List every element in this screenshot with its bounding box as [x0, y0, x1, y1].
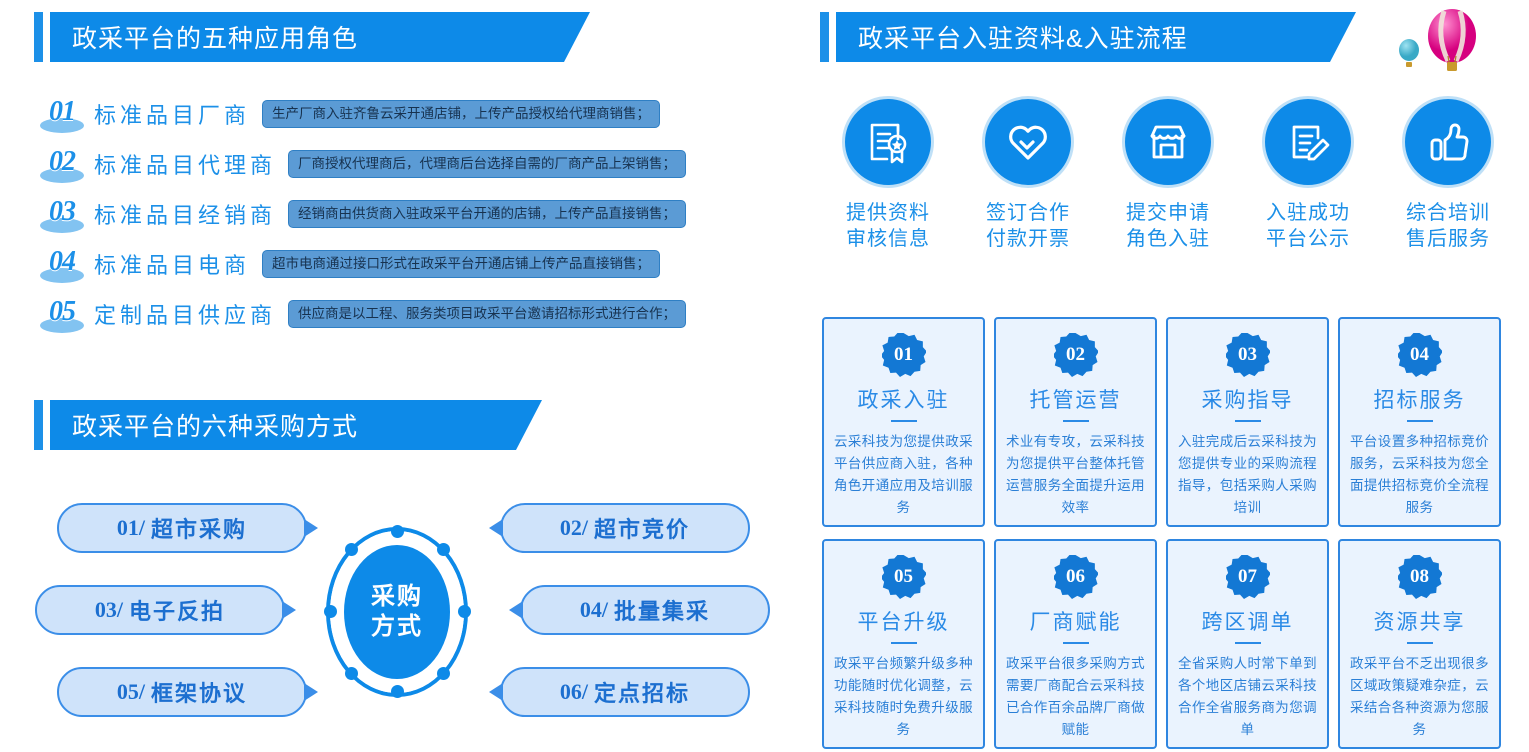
handshake-heart-icon: [982, 96, 1074, 188]
role-number: 02: [34, 143, 90, 185]
method-label: 定点招标: [594, 676, 690, 708]
role-description: 经销商由供货商入驻政采平台开通的店铺，上传产品直接销售；: [288, 200, 686, 228]
flow-step-5[interactable]: 综合培训 售后服务: [1378, 96, 1518, 291]
card-badge: 05: [882, 555, 926, 599]
service-card[interactable]: 08 资源共享 政采平台不乏出现很多区域政策疑难杂症，云采结合各种资源为您服务: [1338, 539, 1501, 749]
flow-step-label: 综合培训 售后服务: [1406, 200, 1490, 253]
hot-air-balloon-icon: [1392, 6, 1512, 83]
card-title: 招标服务: [1374, 384, 1466, 414]
method-label: 电子反拍: [129, 594, 225, 626]
flow-step-3[interactable]: 提交申请 角色入驻: [1098, 96, 1238, 291]
methods-section-banner: 政采平台的六种采购方式: [34, 400, 542, 450]
role-title: 定制品目供应商: [94, 298, 276, 330]
banner-accent-tick: [820, 12, 829, 62]
role-title: 标准品目电商: [94, 248, 250, 280]
hub-dot: [391, 685, 404, 698]
onboarding-flow: 提供资料 审核信息 签订合作 付款开票: [818, 96, 1518, 291]
role-description: 超市电商通过接口形式在政采平台开通店铺上传产品直接销售；: [262, 250, 660, 278]
hub-dot: [437, 667, 450, 680]
methods-header-title: 政采平台的六种采购方式: [50, 400, 542, 450]
card-title: 采购指导: [1202, 384, 1294, 414]
banner-accent-tick: [34, 12, 43, 62]
flow-step-4[interactable]: 入驻成功 平台公示: [1238, 96, 1378, 291]
flow-label-line1: 签订合作: [986, 200, 1070, 226]
service-card[interactable]: 07 跨区调单 全省采购人时常下单到各个地区店铺云采科技合作全省服务商为您调单: [1166, 539, 1329, 749]
method-label: 超市竞价: [594, 512, 690, 544]
hub-dot: [345, 667, 358, 680]
role-description: 供应商是以工程、服务类项目政采平台邀请招标形式进行合作；: [288, 300, 686, 328]
card-description: 政采平台频繁升级多种功能随时优化调整，云采科技随时免费升级服务: [824, 653, 983, 740]
card-badge: 08: [1398, 555, 1442, 599]
card-description: 入驻完成后云采科技为您提供专业的采购流程指导，包括采购人采购培训: [1168, 431, 1327, 518]
card-description: 平台设置多种招标竞价服务，云采科技为您全面提供招标竞价全流程服务: [1340, 431, 1499, 518]
storefront-icon: [1122, 96, 1214, 188]
flow-label-line1: 提交申请: [1126, 200, 1210, 226]
card-badge: 02: [1054, 333, 1098, 377]
role-title: 标准品目经销商: [94, 198, 276, 230]
card-description: 云采科技为您提供政采平台供应商入驻，各种角色开通应用及培训服务: [824, 431, 983, 518]
banner-accent-tick: [34, 400, 43, 450]
flow-label-line2: 角色入驻: [1126, 226, 1210, 252]
method-number: 03/: [95, 597, 123, 623]
flow-label-line2: 付款开票: [986, 226, 1070, 252]
card-divider: [1407, 420, 1433, 422]
flow-label-line1: 入驻成功: [1266, 200, 1350, 226]
flow-label-line2: 平台公示: [1266, 226, 1350, 252]
role-row[interactable]: 04 标准品目电商 超市电商通过接口形式在政采平台开通店铺上传产品直接销售；: [34, 243, 660, 285]
role-row[interactable]: 05 定制品目供应商 供应商是以工程、服务类项目政采平台邀请招标形式进行合作；: [34, 293, 686, 335]
procurement-hub: 采购 方式: [322, 527, 472, 697]
hub-dot: [345, 543, 358, 556]
service-card[interactable]: 04 招标服务 平台设置多种招标竞价服务，云采科技为您全面提供招标竞价全流程服务: [1338, 317, 1501, 527]
method-label: 框架协议: [151, 676, 247, 708]
service-card[interactable]: 03 采购指导 入驻完成后云采科技为您提供专业的采购流程指导，包括采购人采购培训: [1166, 317, 1329, 527]
service-card[interactable]: 05 平台升级 政采平台频繁升级多种功能随时优化调整，云采科技随时免费升级服务: [822, 539, 985, 749]
card-divider: [891, 642, 917, 644]
service-card[interactable]: 01 政采入驻 云采科技为您提供政采平台供应商入驻，各种角色开通应用及培训服务: [822, 317, 985, 527]
card-divider: [1235, 420, 1261, 422]
hub-dot: [324, 605, 337, 618]
card-divider: [891, 420, 917, 422]
card-title: 资源共享: [1374, 606, 1466, 636]
procurement-methods-wheel: 01/ 超市采购 02/ 超市竞价 03/ 电子反拍 04/ 批量集采 05/ …: [30, 485, 790, 725]
method-pill-06[interactable]: 06/ 定点招标: [500, 667, 750, 717]
role-number: 03: [34, 193, 90, 235]
card-title: 平台升级: [858, 606, 950, 636]
method-pill-01[interactable]: 01/ 超市采购: [57, 503, 307, 553]
role-row[interactable]: 03 标准品目经销商 经销商由供货商入驻政采平台开通的店铺，上传产品直接销售；: [34, 193, 686, 235]
card-divider: [1235, 642, 1261, 644]
card-title: 托管运营: [1030, 384, 1122, 414]
flow-step-2[interactable]: 签订合作 付款开票: [958, 96, 1098, 291]
flow-label-line1: 提供资料: [846, 200, 930, 226]
role-row[interactable]: 02 标准品目代理商 厂商授权代理商后，代理商后台选择自需的厂商产品上架销售；: [34, 143, 686, 185]
role-title: 标准品目厂商: [94, 98, 250, 130]
method-number: 06/: [560, 679, 588, 705]
hub-dot: [437, 543, 450, 556]
role-description: 厂商授权代理商后，代理商后台选择自需的厂商产品上架销售；: [288, 150, 686, 178]
hub-dot: [391, 525, 404, 538]
service-card[interactable]: 02 托管运营 术业有专攻，云采科技为您提供平台整体托管运营服务全面提升运用效率: [994, 317, 1157, 527]
card-title: 政采入驻: [858, 384, 950, 414]
flow-step-label: 入驻成功 平台公示: [1266, 200, 1350, 253]
method-label: 超市采购: [151, 512, 247, 544]
card-badge: 04: [1398, 333, 1442, 377]
hub-core-label: 采购 方式: [344, 545, 450, 679]
card-badge: 03: [1226, 333, 1270, 377]
card-badge: 01: [882, 333, 926, 377]
method-pill-04[interactable]: 04/ 批量集采: [520, 585, 770, 635]
flow-step-label: 提交申请 角色入驻: [1126, 200, 1210, 253]
thumbs-up-icon: [1402, 96, 1494, 188]
card-badge: 07: [1226, 555, 1270, 599]
card-description: 政采平台不乏出现很多区域政策疑难杂症，云采结合各种资源为您服务: [1340, 653, 1499, 740]
role-number: 04: [34, 243, 90, 285]
flow-label-line1: 综合培训: [1406, 200, 1490, 226]
card-description: 全省采购人时常下单到各个地区店铺云采科技合作全省服务商为您调单: [1168, 653, 1327, 740]
flow-step-1[interactable]: 提供资料 审核信息: [818, 96, 958, 291]
document-edit-icon: [1262, 96, 1354, 188]
role-row[interactable]: 01 标准品目厂商 生产厂商入驻齐鲁云采开通店铺，上传产品授权给代理商销售；: [34, 93, 660, 135]
flow-step-label: 签订合作 付款开票: [986, 200, 1070, 253]
method-number: 05/: [117, 679, 145, 705]
onboarding-section-banner: 政采平台入驻资料&入驻流程: [820, 12, 1356, 62]
method-number: 02/: [560, 515, 588, 541]
role-number: 01: [34, 93, 90, 135]
role-description: 生产厂商入驻齐鲁云采开通店铺，上传产品授权给代理商销售；: [262, 100, 660, 128]
card-description: 政采平台很多采购方式需要厂商配合云采科技已合作百余品牌厂商做赋能: [996, 653, 1155, 740]
card-divider: [1063, 642, 1089, 644]
method-pill-05[interactable]: 05/ 框架协议: [57, 667, 307, 717]
hub-line-1: 采购: [371, 582, 423, 612]
certificate-icon: [842, 96, 934, 188]
method-label: 批量集采: [614, 594, 710, 626]
method-number: 01/: [117, 515, 145, 541]
hub-dot: [458, 605, 471, 618]
card-divider: [1407, 642, 1433, 644]
onboarding-header-title: 政采平台入驻资料&入驻流程: [836, 12, 1356, 62]
card-title: 厂商赋能: [1030, 606, 1122, 636]
flow-label-line2: 售后服务: [1406, 226, 1490, 252]
service-card[interactable]: 06 厂商赋能 政采平台很多采购方式需要厂商配合云采科技已合作百余品牌厂商做赋能: [994, 539, 1157, 749]
method-number: 04/: [580, 597, 608, 623]
role-title: 标准品目代理商: [94, 148, 276, 180]
roles-section-banner: 政采平台的五种应用角色: [34, 12, 590, 62]
method-pill-02[interactable]: 02/ 超市竞价: [500, 503, 750, 553]
roles-header-title: 政采平台的五种应用角色: [50, 12, 590, 62]
infographic-page: 政采平台的五种应用角色 01 标准品目厂商 生产厂商入驻齐鲁云采开通店铺，上传产…: [0, 0, 1529, 752]
card-title: 跨区调单: [1202, 606, 1294, 636]
role-number: 05: [34, 293, 90, 335]
flow-step-label: 提供资料 审核信息: [846, 200, 930, 253]
card-description: 术业有专攻，云采科技为您提供平台整体托管运营服务全面提升运用效率: [996, 431, 1155, 518]
method-pill-03[interactable]: 03/ 电子反拍: [35, 585, 285, 635]
card-divider: [1063, 420, 1089, 422]
flow-label-line2: 审核信息: [846, 226, 930, 252]
hub-line-2: 方式: [371, 612, 423, 642]
card-badge: 06: [1054, 555, 1098, 599]
service-cards-grid: 01 政采入驻 云采科技为您提供政采平台供应商入驻，各种角色开通应用及培训服务 …: [822, 317, 1512, 749]
